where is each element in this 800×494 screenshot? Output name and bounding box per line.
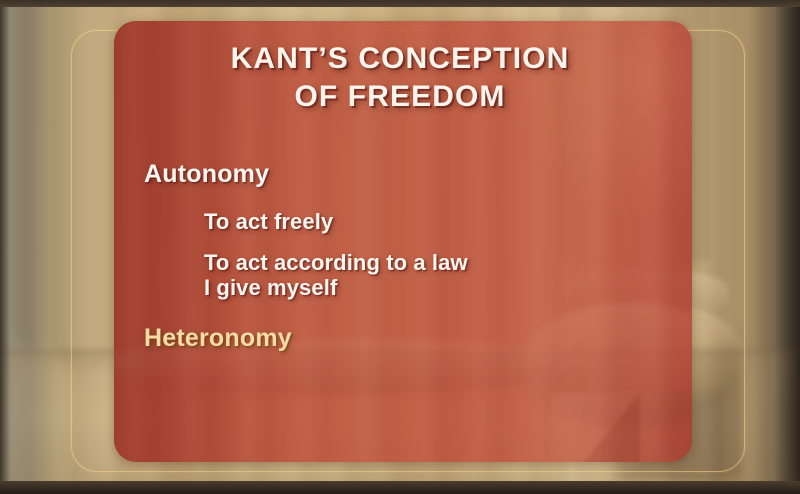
bullet-autonomy: Autonomy — [144, 160, 770, 190]
spacer-2 — [144, 234, 770, 251]
bullet-to-act-freely: To act freely — [204, 210, 770, 235]
slide-content: KANT’S CONCEPTION OF FREEDOM Autonomy To… — [0, 0, 800, 494]
slide-title-line-2: OF FREEDOM — [0, 78, 800, 116]
bullet-heteronomy: Heteronomy — [144, 324, 770, 354]
slide-screen: KANT’S CONCEPTION OF FREEDOM Autonomy To… — [0, 0, 800, 494]
spacer-3 — [144, 300, 770, 324]
slide-body: Autonomy To act freely To act according … — [144, 160, 770, 354]
bullet-to-act-according-to-a-law: To act according to a law — [204, 251, 770, 276]
bullet-i-give-myself: I give myself — [204, 276, 770, 301]
slide-title-line-1: KANT’S CONCEPTION — [0, 40, 800, 78]
slide-title: KANT’S CONCEPTION OF FREEDOM — [0, 40, 800, 116]
spacer-1 — [144, 190, 770, 210]
